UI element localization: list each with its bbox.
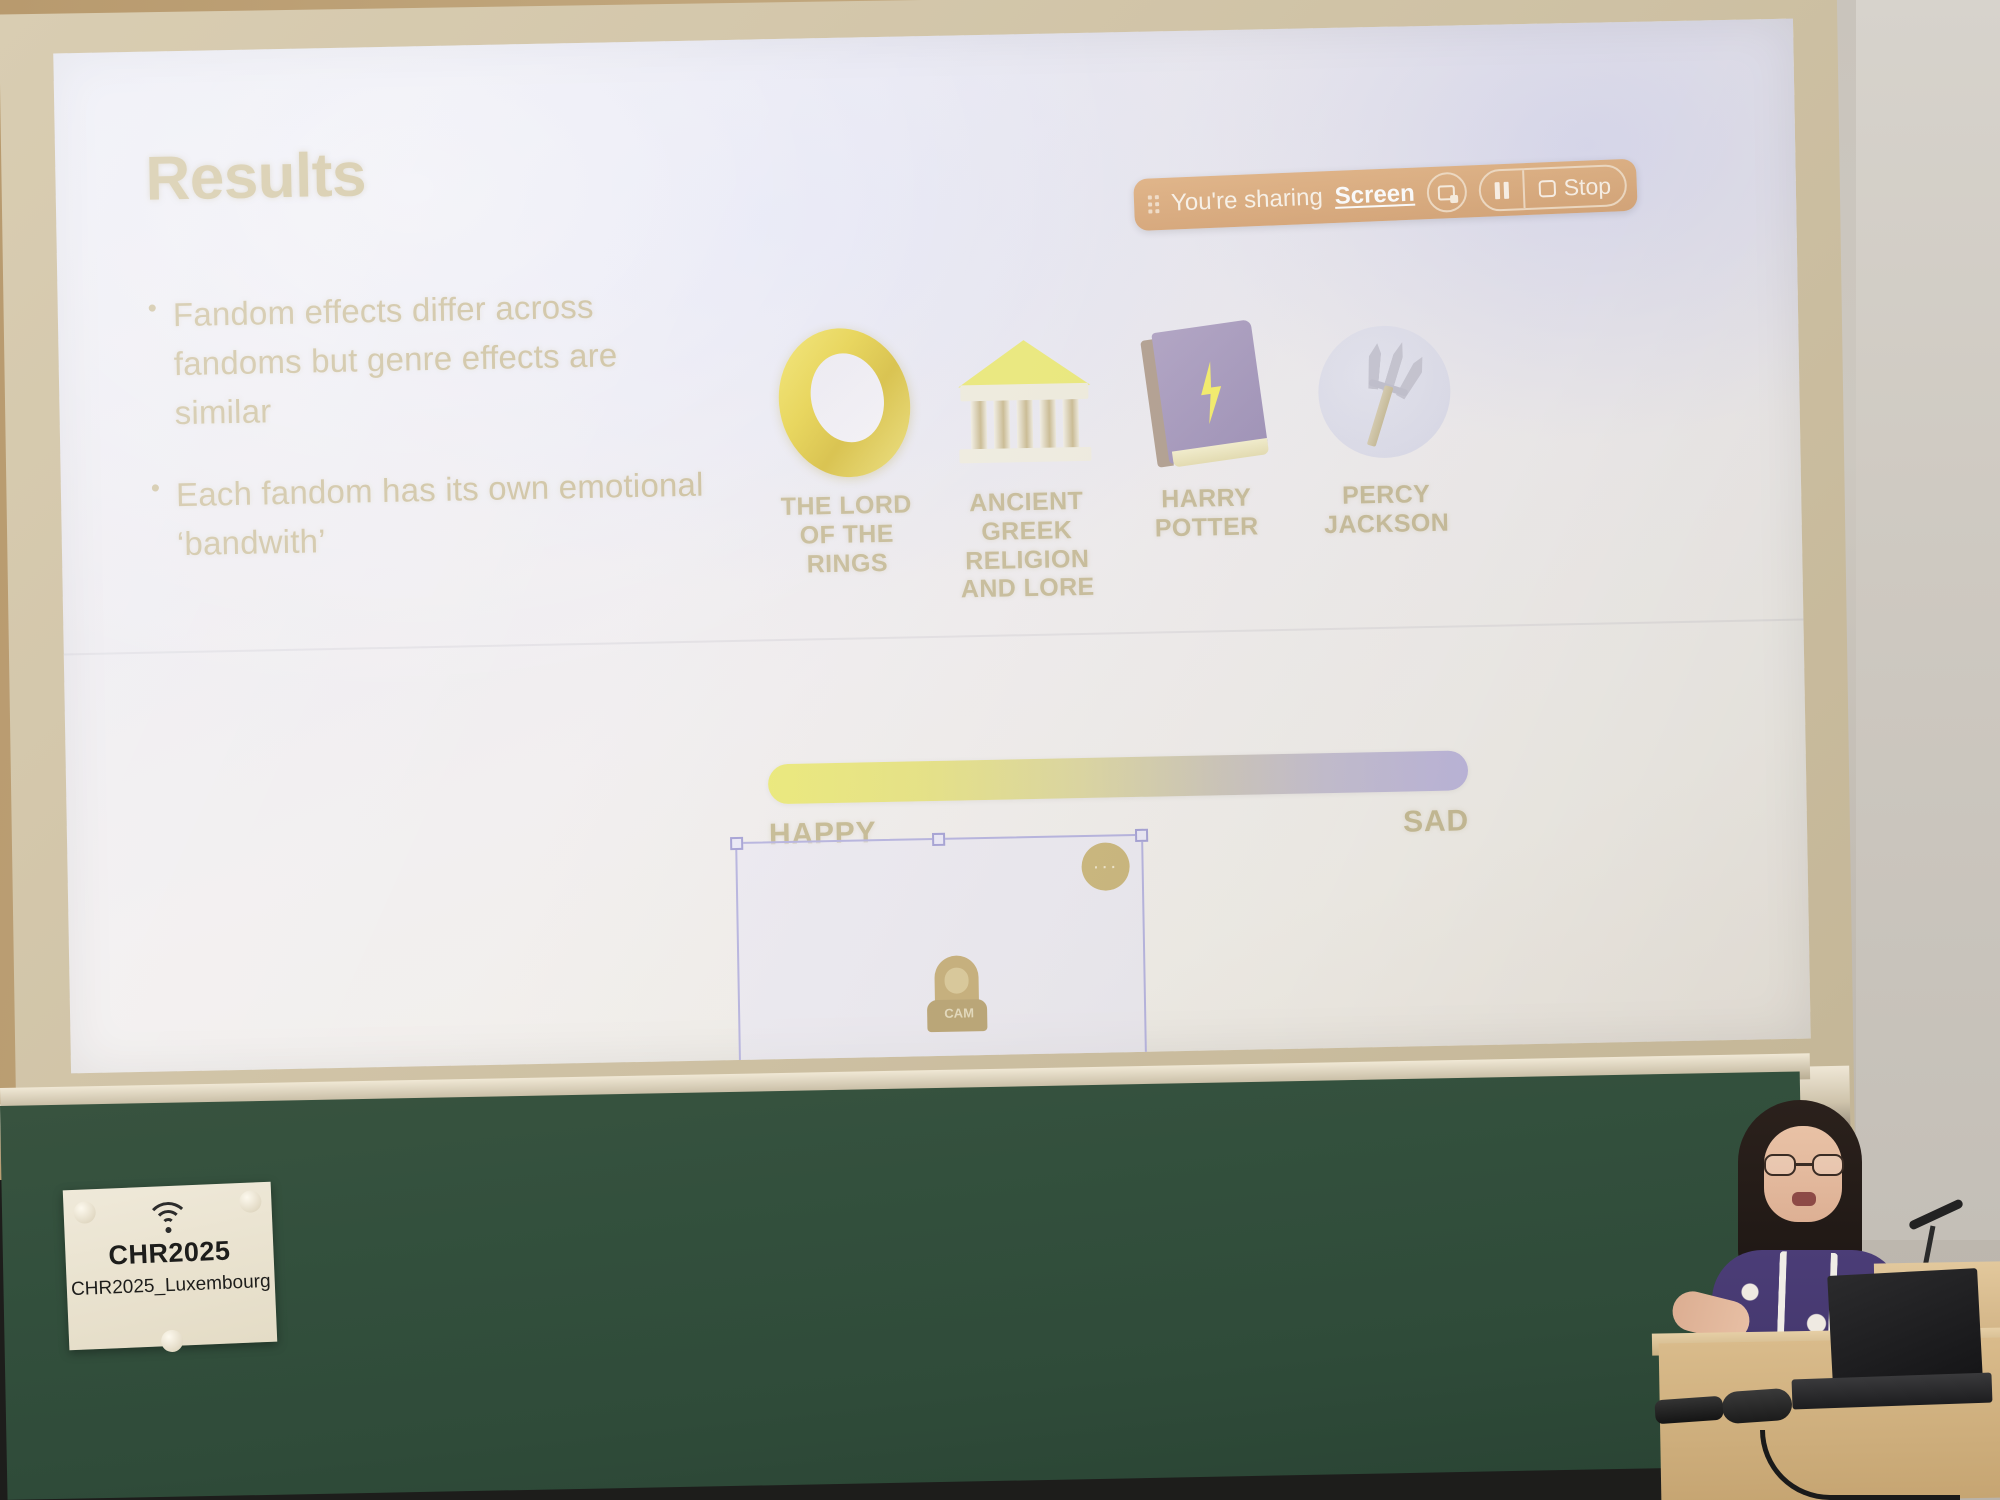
participant-video-figure: CAM <box>924 955 989 1030</box>
presentation-remote[interactable] <box>1654 1396 1724 1425</box>
resize-handle-top-center[interactable] <box>932 833 945 846</box>
list-item: • Fandom effects differ across fandoms b… <box>147 280 709 438</box>
fandom-item-hp: HARRY POTTER <box>1123 319 1287 544</box>
fandom-item-greek: ANCIENT GREEK RELIGION AND LORE <box>943 323 1108 605</box>
wifi-ssid: CHR2025_Luxembourg <box>66 1271 275 1302</box>
share-controls-group: Stop <box>1478 164 1628 212</box>
temple-icon <box>948 323 1101 476</box>
fandom-label: ANCIENT GREEK RELIGION AND LORE <box>946 486 1108 604</box>
resize-handle-top-right[interactable] <box>1135 829 1148 842</box>
conference-room-photo: Results • Fandom effects differ across f… <box>0 0 2000 1500</box>
page-title: Results <box>145 139 367 214</box>
wifi-icon <box>144 1201 191 1233</box>
trident-icon <box>1308 315 1461 468</box>
participant-caption: CAM <box>939 1005 979 1021</box>
fandom-item-percy: PERCY JACKSON <box>1303 315 1467 540</box>
emotion-gradient-bar <box>768 750 1469 804</box>
annotate-icon[interactable] <box>1426 172 1468 214</box>
drag-grip-icon[interactable] <box>1148 195 1160 213</box>
laptop-screen[interactable] <box>1827 1268 1983 1386</box>
wifi-info-sign: CHR2025 CHR2025_Luxembourg <box>63 1182 278 1351</box>
stop-square-icon <box>1538 179 1556 197</box>
fandom-label: PERCY JACKSON <box>1306 479 1467 540</box>
more-options-icon[interactable]: ··· <box>1081 842 1130 891</box>
ring-icon <box>768 326 921 479</box>
bullet-list: • Fandom effects differ across fandoms b… <box>147 280 712 603</box>
presentation-slide: Results • Fandom effects differ across f… <box>53 19 1810 1074</box>
resize-handle-top-left[interactable] <box>730 837 743 850</box>
share-status-text: You're sharing <box>1171 183 1324 217</box>
fandom-item-lotr: THE LORD OF THE RINGS <box>763 326 927 579</box>
screen-share-toolbar[interactable]: You're sharing Screen Stop <box>1133 159 1638 232</box>
list-item: • Each fandom has its own emotional ‘ban… <box>151 461 713 570</box>
stop-label: Stop <box>1563 172 1611 201</box>
video-participant-tile[interactable]: ··· CAM <box>735 834 1147 1074</box>
shared-target-link[interactable]: Screen <box>1334 180 1415 211</box>
fandom-icon-row: THE LORD OF THE RINGS ANCIENT GREEK RELI… <box>763 315 1468 608</box>
bullet-text: Each fandom has its own emotional ‘bandw… <box>176 461 712 569</box>
pause-icon[interactable] <box>1480 170 1523 210</box>
eyeglasses <box>1764 1154 1844 1176</box>
fandom-label: THE LORD OF THE RINGS <box>766 490 927 579</box>
book-bolt-icon <box>1128 319 1281 472</box>
stop-sharing-button[interactable]: Stop <box>1524 166 1626 208</box>
scale-label-sad: SAD <box>1403 804 1469 839</box>
bullet-text: Fandom effects differ across fandoms but… <box>173 280 710 437</box>
computer-mouse[interactable] <box>1721 1388 1793 1425</box>
concrete-wall-panel <box>1856 0 2000 1240</box>
fandom-label: HARRY POTTER <box>1126 483 1287 544</box>
bullet-point-icon: • <box>151 472 162 570</box>
bullet-point-icon: • <box>147 292 159 439</box>
